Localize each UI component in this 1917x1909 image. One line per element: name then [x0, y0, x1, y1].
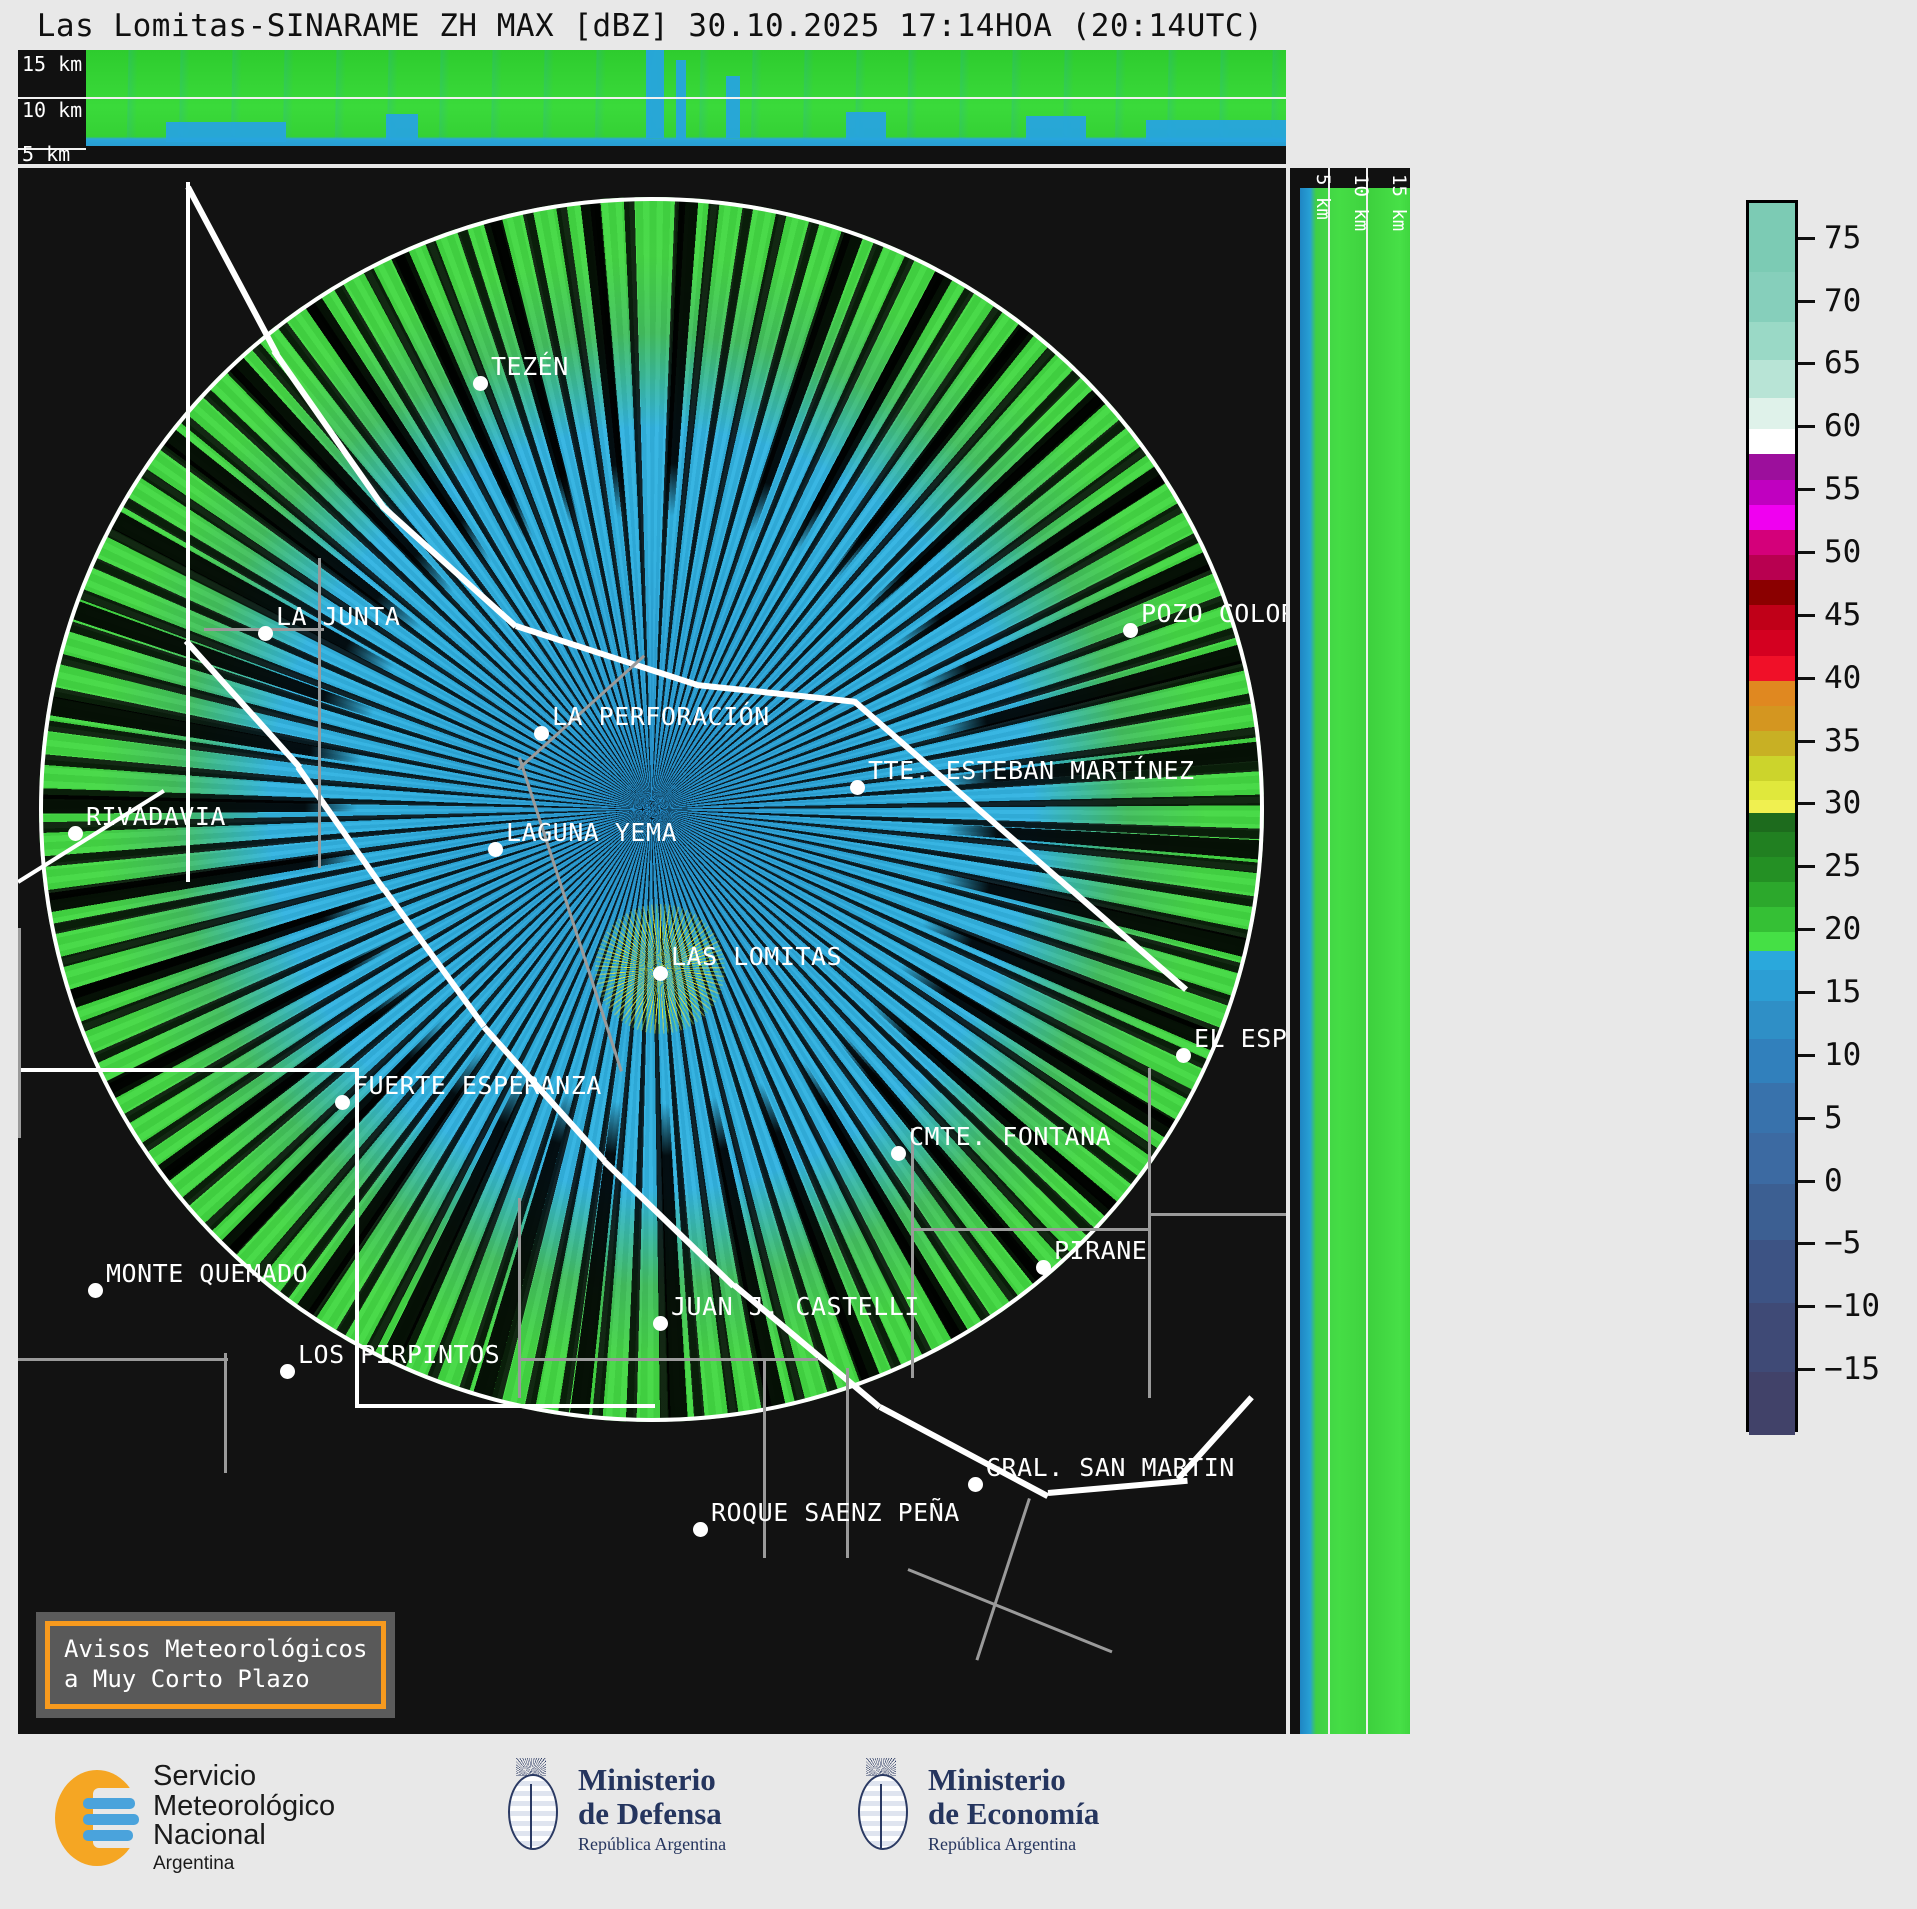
smn-line-2: Meteorológico — [153, 1792, 335, 1822]
province-border-lower-box-bottom — [355, 1404, 655, 1408]
river-segment — [879, 1404, 1050, 1498]
colorbar-segment — [1749, 1372, 1795, 1435]
city-label: MONTE QUEMADO — [106, 1259, 308, 1288]
footer-logos: Servicio Meteorológico Nacional Argentin… — [0, 1734, 1917, 1909]
colorbar-segment — [1749, 272, 1795, 322]
colorbar-tick-label: 70 — [1824, 283, 1861, 319]
defensa-line-2: de Defensa — [578, 1797, 726, 1830]
rhi-height-label-5km: 5 km — [1312, 174, 1334, 220]
colorbar-tick — [1798, 1305, 1815, 1308]
colorbar-tick — [1798, 237, 1815, 240]
economia-line-3: República Argentina — [928, 1834, 1099, 1855]
colorbar-segment — [1749, 882, 1795, 907]
city-dot — [1123, 623, 1138, 638]
colorbar-segment — [1749, 1039, 1795, 1083]
city-label: TEZÉN — [491, 352, 569, 381]
economia-line-1: Ministerio — [928, 1763, 1099, 1796]
city-label: JUAN J. CASTELLI — [671, 1292, 920, 1321]
logo-ministerio-de-defensa: Ministerio de Defensa República Argentin… — [500, 1758, 726, 1860]
avisos-badge[interactable]: Avisos Meteorológicos a Muy Corto Plazo — [36, 1612, 395, 1718]
city-label: TTE. ESTEBAN MARTÍNEZ — [868, 756, 1195, 785]
colorbar-segment — [1749, 813, 1795, 832]
colorbar-tick — [1798, 740, 1815, 743]
city-dot — [534, 726, 549, 741]
colorbar-legend: 757065605550454035302520151050−5−10−15 — [1746, 200, 1906, 1432]
river-segment — [185, 186, 279, 357]
vertical-cross-section-panel: 15 km 10 km 5 km — [18, 50, 1286, 164]
department-border — [846, 1368, 849, 1558]
province-border-lower-box-top — [18, 1068, 358, 1072]
colorbar-segment — [1749, 360, 1795, 398]
colorbar-tick — [1798, 425, 1815, 428]
colorbar-tick-label: 45 — [1824, 597, 1861, 633]
colorbar-tick-label: 40 — [1824, 660, 1861, 696]
city-label: ROQUE SAENZ PEÑA — [711, 1498, 960, 1527]
colorbar-segment — [1749, 1303, 1795, 1372]
argentina-coat-of-arms-icon — [850, 1758, 912, 1860]
colorbar-segment — [1749, 530, 1795, 555]
department-border — [911, 1228, 1151, 1231]
department-border — [907, 1568, 1112, 1653]
colorbar-tick-label: 35 — [1824, 723, 1861, 759]
city-label: CMTE. FONTANA — [909, 1122, 1111, 1151]
city-label: EL ESPINILLO — [1194, 1024, 1286, 1053]
colorbar-segment — [1749, 580, 1795, 605]
colorbar-segment — [1749, 932, 1795, 951]
colorbar-segment — [1749, 951, 1795, 970]
department-border — [18, 928, 21, 1138]
colorbar-tick — [1798, 362, 1815, 365]
colorbar-tick — [1798, 1117, 1815, 1120]
colorbar-tick-label: 55 — [1824, 471, 1861, 507]
city-label: LAS LOMITAS — [671, 942, 842, 971]
smn-line-4: Argentina — [153, 1854, 335, 1873]
avisos-line-2: a Muy Corto Plazo — [64, 1664, 367, 1694]
city-dot — [1176, 1048, 1191, 1063]
colorbar-tick-label: −15 — [1824, 1351, 1880, 1387]
colorbar-segment — [1749, 731, 1795, 756]
rhi-height-label-10km: 10 km — [1350, 174, 1372, 231]
colorbar-segment — [1749, 1001, 1795, 1039]
department-border — [1148, 1213, 1286, 1216]
colorbar-segment — [1749, 1240, 1795, 1303]
colorbar-tick — [1798, 551, 1815, 554]
smn-line-3: Nacional — [153, 1821, 335, 1851]
department-border — [1148, 1068, 1151, 1398]
department-border — [763, 1358, 766, 1558]
colorbar-segment — [1749, 681, 1795, 706]
colorbar-tick — [1798, 802, 1815, 805]
colorbar-tick — [1798, 1054, 1815, 1057]
city-dot — [280, 1364, 295, 1379]
department-border — [975, 1498, 1030, 1661]
logo-ministerio-de-economia: Ministerio de Economía República Argenti… — [850, 1758, 1099, 1860]
colorbar-tick-label: 60 — [1824, 408, 1861, 444]
department-border — [518, 1198, 521, 1398]
rhi-gridline-10km — [1366, 168, 1368, 1736]
colorbar-segment — [1749, 630, 1795, 655]
radar-product-page: Las Lomitas-SINARAME ZH MAX [dBZ] 30.10.… — [0, 0, 1917, 1909]
city-dot — [891, 1146, 906, 1161]
colorbar-segment — [1749, 454, 1795, 479]
colorbar-tick-label: 10 — [1824, 1037, 1861, 1073]
city-dot — [68, 826, 83, 841]
colorbar-segment — [1749, 857, 1795, 882]
colorbar-segment — [1749, 480, 1795, 505]
colorbar-segment — [1749, 605, 1795, 630]
radar-ppi-panel[interactable]: TEZÉN LA JUNTA POZO COLORADO LA PERFORAC… — [18, 168, 1286, 1736]
city-label: GRAL. SAN MARTIN — [986, 1453, 1235, 1482]
xsec-height-label-5km: 5 km — [22, 142, 70, 164]
city-label: POZO COLORADO — [1141, 599, 1286, 628]
colorbar-tick — [1798, 928, 1815, 931]
city-dot — [473, 376, 488, 391]
smn-line-1: Servicio — [153, 1762, 335, 1792]
colorbar-segment — [1749, 505, 1795, 530]
department-border — [18, 1358, 228, 1361]
colorbar-segment — [1749, 1083, 1795, 1133]
defensa-line-1: Ministerio — [578, 1763, 726, 1796]
colorbar-tick-label: 15 — [1824, 974, 1861, 1010]
city-dot — [488, 842, 503, 857]
colorbar-tick-label: 25 — [1824, 848, 1861, 884]
colorbar-segment — [1749, 1133, 1795, 1183]
colorbar-segment — [1749, 907, 1795, 932]
rhi-echo-column — [1300, 188, 1410, 1736]
city-dot — [693, 1522, 708, 1537]
colorbar-segment — [1749, 656, 1795, 681]
colorbar-tick-label: 50 — [1824, 534, 1861, 570]
colorbar-tick — [1798, 614, 1815, 617]
rhi-height-label-15km: 15 km — [1388, 174, 1410, 231]
colorbar-segment — [1749, 706, 1795, 731]
page-title: Las Lomitas-SINARAME ZH MAX [dBZ] 30.10.… — [0, 8, 1300, 44]
colorbar-gradient — [1746, 200, 1798, 1432]
city-label: PIRANE — [1054, 1236, 1147, 1265]
city-label: RIVADAVIA — [86, 802, 226, 831]
colorbar-tick-label: 75 — [1824, 220, 1861, 256]
colorbar-tick-label: 30 — [1824, 785, 1861, 821]
city-dot — [1036, 1260, 1051, 1275]
defensa-line-3: República Argentina — [578, 1834, 726, 1855]
city-dot — [258, 626, 273, 641]
colorbar-tick — [1798, 865, 1815, 868]
colorbar-segment — [1749, 1184, 1795, 1241]
city-dot — [653, 966, 668, 981]
city-label: LAGUNA YEMA — [506, 818, 677, 847]
economia-line-2: de Economía — [928, 1797, 1099, 1830]
argentina-coat-of-arms-icon — [500, 1758, 562, 1860]
colorbar-segment — [1749, 429, 1795, 454]
colorbar-segment — [1749, 756, 1795, 781]
colorbar-segment — [1749, 781, 1795, 800]
city-label: LA PERFORACIÓN — [552, 702, 770, 731]
xsec-height-label-15km: 15 km — [22, 52, 82, 76]
xsec-height-label-10km: 10 km — [22, 98, 82, 122]
colorbar-tick-label: −10 — [1824, 1288, 1880, 1324]
colorbar-tick — [1798, 488, 1815, 491]
colorbar-tick-label: 20 — [1824, 911, 1861, 947]
avisos-line-1: Avisos Meteorológicos — [64, 1634, 367, 1664]
colorbar-segment — [1749, 555, 1795, 580]
colorbar-tick — [1798, 991, 1815, 994]
avisos-badge-inner: Avisos Meteorológicos a Muy Corto Plazo — [45, 1621, 386, 1709]
colorbar-segment — [1749, 398, 1795, 429]
logo-servicio-meteorologico-nacional: Servicio Meteorológico Nacional Argentin… — [55, 1762, 335, 1873]
province-border-vertical — [186, 182, 190, 882]
colorbar-axis: 757065605550454035302520151050−5−10−15 — [1798, 200, 1908, 1432]
department-border — [911, 1128, 914, 1378]
city-dot — [850, 780, 865, 795]
colorbar-tick-label: 5 — [1824, 1100, 1843, 1136]
rhi-side-panel: 5 km 10 km 15 km — [1290, 168, 1410, 1736]
colorbar-segment — [1749, 970, 1795, 1001]
colorbar-tick — [1798, 1242, 1815, 1245]
department-border — [224, 1353, 227, 1473]
city-dot — [653, 1316, 668, 1331]
department-border — [518, 1358, 818, 1361]
rhi-gridline-5km — [1328, 168, 1330, 1736]
colorbar-tick — [1798, 300, 1815, 303]
colorbar-tick — [1798, 677, 1815, 680]
colorbar-tick-label: 65 — [1824, 345, 1861, 381]
city-dot — [968, 1477, 983, 1492]
city-dot — [88, 1283, 103, 1298]
city-label: FUERTE ESPERANZA — [353, 1071, 602, 1100]
colorbar-segment — [1749, 322, 1795, 360]
colorbar-segment — [1749, 832, 1795, 857]
city-dot — [335, 1095, 350, 1110]
colorbar-tick-label: −5 — [1824, 1225, 1861, 1261]
city-label: LA JUNTA — [276, 602, 400, 631]
colorbar-tick — [1798, 1368, 1815, 1371]
colorbar-segment — [1749, 800, 1795, 813]
smn-logo-icon — [55, 1770, 139, 1866]
colorbar-tick — [1798, 1180, 1815, 1183]
colorbar-tick-label: 0 — [1824, 1163, 1843, 1199]
city-label: LOS PIRPINTOS — [298, 1340, 500, 1369]
colorbar-segment — [1749, 203, 1795, 272]
